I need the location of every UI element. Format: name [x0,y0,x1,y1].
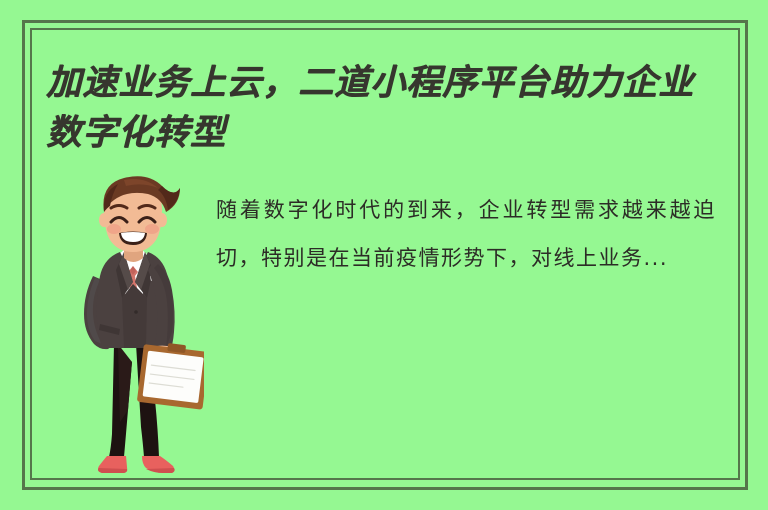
businessman-icon [62,172,204,480]
page-title: 加速业务上云，二道小程序平台助力企业数字化转型 [46,58,718,158]
businessman-illustration [62,172,204,480]
article-excerpt: 随着数字化时代的到来，企业转型需求越来越迫切，特别是在当前疫情形势下，对线上业务… [216,186,716,282]
poster-card: 加速业务上云，二道小程序平台助力企业数字化转型 随着数字化时代的到来，企业转型需… [0,0,768,510]
